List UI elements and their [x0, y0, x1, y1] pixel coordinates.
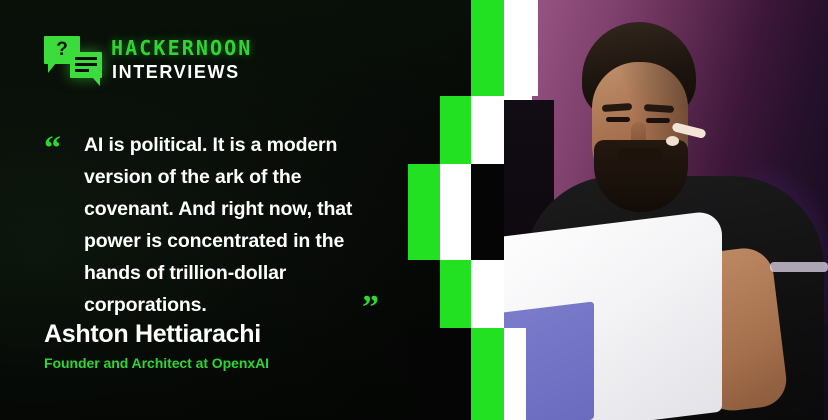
- lines-speech-bubble-icon: [70, 52, 102, 78]
- logo-brand-name: HACKERNOON: [111, 38, 252, 58]
- logo-mark: ?: [44, 32, 102, 86]
- decor-block-white-2: [471, 96, 504, 164]
- quote-block: “ AI is political. It is a modern versio…: [44, 129, 374, 321]
- hackernoon-interviews-logo[interactable]: ? HACKERNOON INTERVIEWS: [44, 32, 252, 86]
- speaker-eye-right: [646, 118, 670, 123]
- decor-block-white-4: [471, 260, 504, 328]
- headset-microphone-tip: [666, 136, 679, 146]
- quote-open-mark: “: [44, 132, 60, 166]
- speaker-title: Founder and Architect at OpenxAI: [44, 355, 269, 372]
- logo-series-name: INTERVIEWS: [111, 63, 252, 81]
- decor-block-white-1: [504, 0, 538, 96]
- interview-quote-card: ? HACKERNOON INTERVIEWS “ AI is politica…: [0, 0, 828, 420]
- speaker-name: Ashton Hettiarachi: [44, 320, 269, 348]
- quote-text: AI is political. It is a modern version …: [44, 129, 374, 321]
- bubble-line-3: [75, 69, 89, 72]
- speaker-eye-left: [606, 117, 630, 122]
- decor-block-green-5: [471, 328, 504, 420]
- logo-wordmark: HACKERNOON INTERVIEWS: [111, 38, 252, 81]
- quote-close-mark: ”: [362, 291, 378, 325]
- bubble-line-1: [75, 57, 97, 60]
- question-bubble-tail: [48, 63, 56, 73]
- speaker-credit: Ashton Hettiarachi Founder and Architect…: [44, 320, 269, 372]
- decor-block-black-3: [408, 328, 471, 420]
- decor-block-black-2: [471, 164, 504, 260]
- decor-block-white-5: [504, 328, 526, 420]
- decor-block-green-1: [471, 0, 504, 96]
- lines-bubble-tail: [92, 77, 100, 86]
- speaker-head: [576, 22, 702, 194]
- stage-light-bar: [770, 262, 828, 272]
- decor-block-green-4: [440, 260, 471, 328]
- bubble-line-2: [75, 63, 97, 66]
- decor-block-white-3: [440, 164, 471, 260]
- speaker-moustache: [618, 148, 662, 160]
- decor-block-green-2: [440, 96, 471, 164]
- decor-block-green-3: [408, 164, 440, 260]
